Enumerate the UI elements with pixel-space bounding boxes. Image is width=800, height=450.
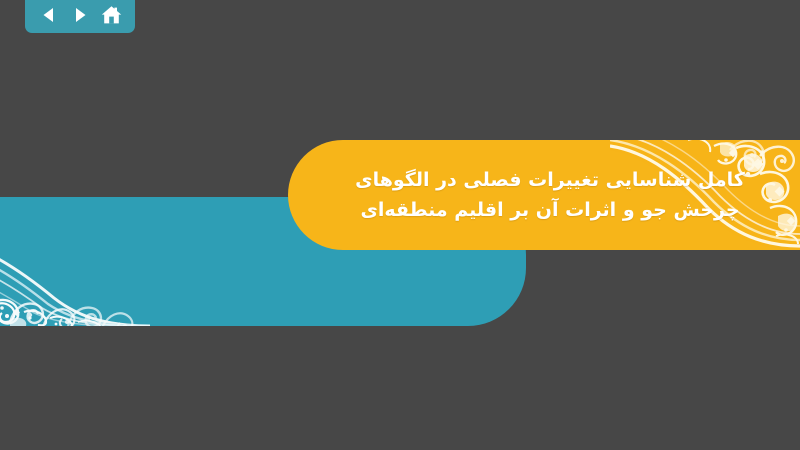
home-icon (101, 5, 122, 25)
title-panel: کامل شناسایی تغییرات فصلی در الگوهای چرخ… (288, 140, 800, 250)
next-button[interactable] (69, 4, 91, 26)
title-line-2: چرخش جو و اثرات آن بر اقلیم منطقه‌ای (360, 196, 739, 225)
slide-canvas: کامل شناسایی تغییرات فصلی در الگوهای چرخ… (0, 0, 800, 450)
previous-button[interactable] (38, 4, 60, 26)
title-line-1: کامل شناسایی تغییرات فصلی در الگوهای (355, 166, 745, 195)
triangle-left-icon (40, 6, 58, 24)
page-title: کامل شناسایی تغییرات فصلی در الگوهای چرخ… (288, 140, 800, 250)
triangle-right-icon (71, 6, 89, 24)
navigation-bar (25, 0, 135, 33)
teal-arabesque-ornament (0, 198, 150, 326)
home-button[interactable] (100, 4, 122, 26)
